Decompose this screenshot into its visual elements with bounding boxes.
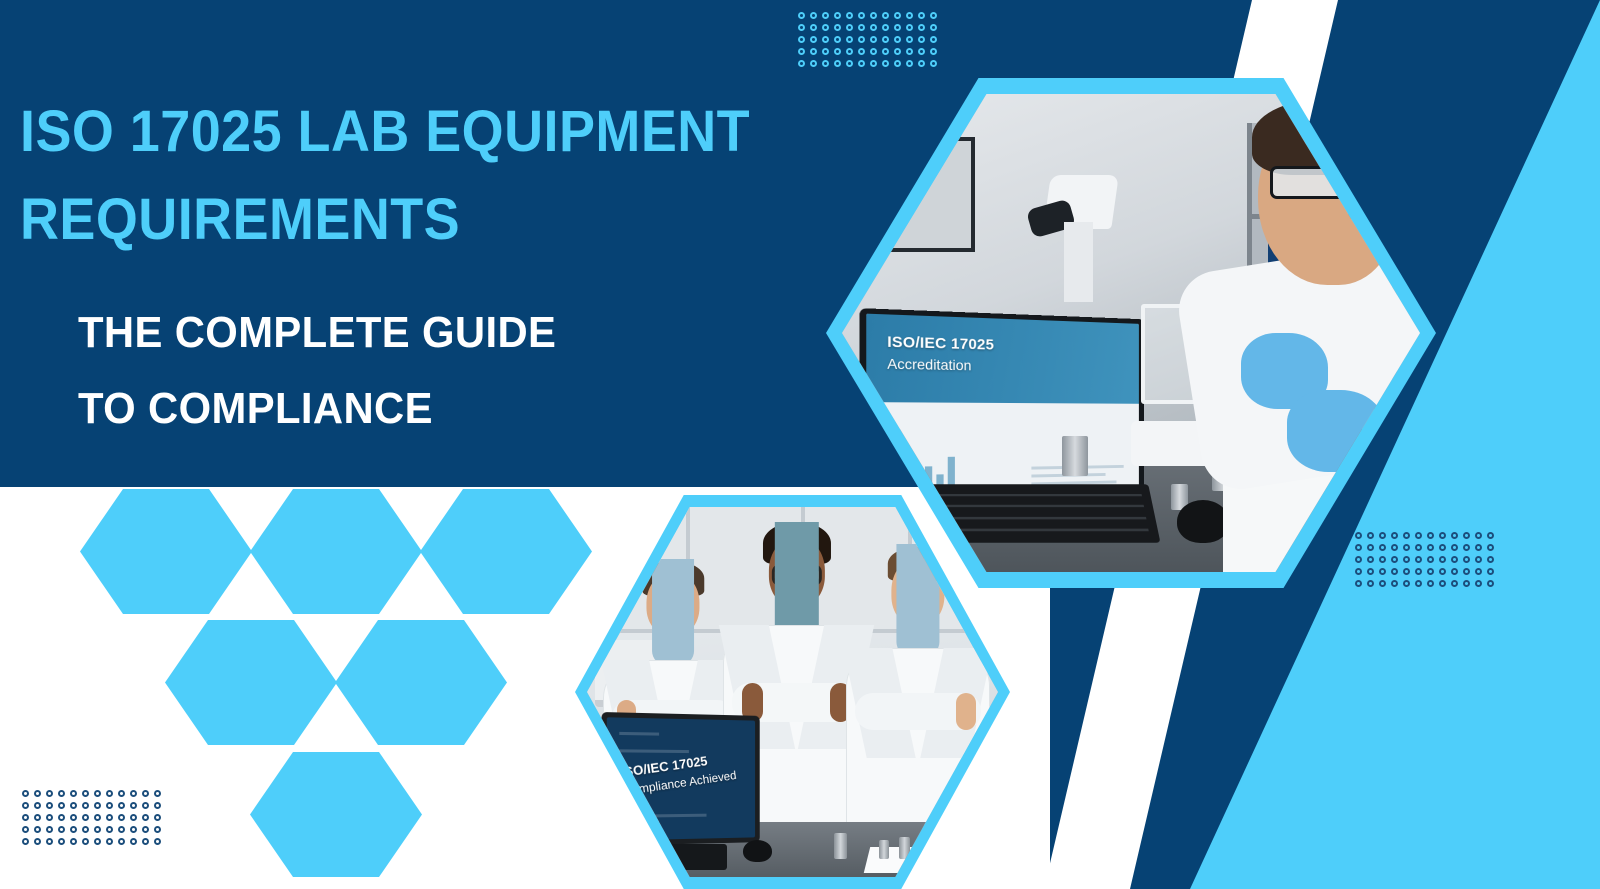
dot — [1379, 556, 1386, 563]
dot — [154, 838, 161, 845]
dot — [1427, 544, 1434, 551]
dot — [142, 802, 149, 809]
dot — [106, 802, 113, 809]
dot — [906, 48, 913, 55]
dot — [154, 790, 161, 797]
dot — [810, 36, 817, 43]
dot — [22, 790, 29, 797]
dot — [106, 826, 113, 833]
dot — [1403, 556, 1410, 563]
dot — [154, 802, 161, 809]
dot — [142, 838, 149, 845]
dot — [1475, 580, 1482, 587]
dot — [918, 24, 925, 31]
dot — [1475, 544, 1482, 551]
dot — [1487, 580, 1494, 587]
dot — [822, 48, 829, 55]
dot — [94, 802, 101, 809]
dot — [70, 814, 77, 821]
dot — [918, 36, 925, 43]
dot — [1427, 556, 1434, 563]
dot — [810, 60, 817, 67]
dot — [58, 826, 65, 833]
dot — [918, 60, 925, 67]
dot — [906, 12, 913, 19]
dot — [834, 24, 841, 31]
dot — [858, 24, 865, 31]
dot — [1355, 532, 1362, 539]
dot — [1451, 532, 1458, 539]
dot — [870, 36, 877, 43]
bottom-right-dot-grid — [1355, 532, 1499, 592]
dot — [882, 36, 889, 43]
dot — [1463, 556, 1470, 563]
dot — [846, 60, 853, 67]
dot — [834, 36, 841, 43]
dot — [846, 24, 853, 31]
dot — [58, 838, 65, 845]
dot — [858, 48, 865, 55]
dot — [798, 24, 805, 31]
dot — [822, 36, 829, 43]
dot — [930, 12, 937, 19]
dot — [46, 802, 53, 809]
dot — [1391, 544, 1398, 551]
dot — [82, 790, 89, 797]
dot — [798, 36, 805, 43]
calibration-weight — [834, 833, 847, 859]
dot — [930, 24, 937, 31]
dot — [1451, 568, 1458, 575]
dot — [870, 24, 877, 31]
dot — [1355, 568, 1362, 575]
dot — [34, 790, 41, 797]
dot — [1451, 544, 1458, 551]
dot — [1403, 532, 1410, 539]
dot — [1415, 532, 1422, 539]
dot — [46, 838, 53, 845]
dot — [58, 802, 65, 809]
dot — [870, 60, 877, 67]
dot — [1391, 532, 1398, 539]
dot — [118, 802, 125, 809]
dot — [106, 838, 113, 845]
dot — [70, 826, 77, 833]
dot — [1463, 532, 1470, 539]
dot — [106, 790, 113, 797]
dot — [1379, 544, 1386, 551]
dot — [822, 24, 829, 31]
dot — [1475, 568, 1482, 575]
dot — [34, 826, 41, 833]
dot — [22, 802, 29, 809]
dot — [918, 12, 925, 19]
dot — [822, 12, 829, 19]
dot — [1451, 580, 1458, 587]
dot — [834, 48, 841, 55]
dot — [798, 48, 805, 55]
dot — [82, 814, 89, 821]
dot — [1487, 568, 1494, 575]
dot — [130, 838, 137, 845]
dot — [810, 24, 817, 31]
dot — [46, 826, 53, 833]
dot — [858, 60, 865, 67]
dot — [1427, 532, 1434, 539]
dot — [34, 814, 41, 821]
dot — [798, 60, 805, 67]
dot — [1379, 568, 1386, 575]
dot — [1439, 556, 1446, 563]
dot — [46, 814, 53, 821]
dot — [1367, 556, 1374, 563]
calibration-weight — [879, 840, 889, 859]
dot — [1439, 568, 1446, 575]
dot — [142, 814, 149, 821]
banner-title: ISO 17025 LAB EQUIPMENT REQUIREMENTS — [20, 88, 876, 264]
dot — [1487, 544, 1494, 551]
dot — [130, 814, 137, 821]
dot — [1403, 568, 1410, 575]
computer-mouse — [743, 840, 772, 862]
dot — [906, 24, 913, 31]
dot — [1439, 532, 1446, 539]
dot — [154, 826, 161, 833]
dot — [130, 790, 137, 797]
dot — [858, 36, 865, 43]
dot — [118, 826, 125, 833]
dot — [870, 48, 877, 55]
dot — [34, 802, 41, 809]
dot — [906, 60, 913, 67]
dot — [94, 838, 101, 845]
dot — [1355, 544, 1362, 551]
calibration-weight — [1062, 436, 1088, 476]
dot — [1367, 532, 1374, 539]
dot — [34, 838, 41, 845]
dot — [894, 48, 901, 55]
dot — [70, 802, 77, 809]
dot — [846, 36, 853, 43]
monitor-screen-title: ISO/IEC 17025 — [887, 333, 994, 355]
banner-canvas: ISO/IEC 17025 Accreditation — [0, 0, 1600, 889]
dot — [1391, 580, 1398, 587]
dot — [70, 838, 77, 845]
dot — [1355, 556, 1362, 563]
top-dot-grid — [798, 12, 942, 72]
dot — [94, 826, 101, 833]
dot — [1463, 580, 1470, 587]
dot — [118, 814, 125, 821]
dot — [1415, 544, 1422, 551]
dot — [22, 814, 29, 821]
dot — [798, 12, 805, 19]
dot — [1475, 532, 1482, 539]
dot — [22, 826, 29, 833]
dot — [1427, 568, 1434, 575]
dot — [130, 826, 137, 833]
dot — [870, 12, 877, 19]
dot — [822, 60, 829, 67]
dot — [846, 12, 853, 19]
dot — [58, 790, 65, 797]
dot — [1415, 556, 1422, 563]
monitor-screen-subtitle: Accreditation — [887, 356, 994, 376]
dot — [1475, 556, 1482, 563]
dot — [810, 48, 817, 55]
dot — [882, 60, 889, 67]
dot — [154, 814, 161, 821]
dot — [858, 12, 865, 19]
dot — [882, 12, 889, 19]
banner-subtitle: THE COMPLETE GUIDE TO COMPLIANCE — [78, 295, 857, 446]
dot — [1427, 580, 1434, 587]
dot — [1463, 544, 1470, 551]
dot — [142, 826, 149, 833]
dot — [1439, 544, 1446, 551]
dot — [918, 48, 925, 55]
dot — [82, 838, 89, 845]
dot — [930, 48, 937, 55]
dot — [894, 12, 901, 19]
banner-subtitle-line-2: TO COMPLIANCE — [78, 371, 857, 447]
banner-subtitle-line-1: THE COMPLETE GUIDE — [78, 295, 857, 371]
dot — [106, 814, 113, 821]
dot — [1487, 556, 1494, 563]
dot — [834, 12, 841, 19]
dot — [1487, 532, 1494, 539]
dot — [894, 24, 901, 31]
dot — [1451, 556, 1458, 563]
dot — [894, 36, 901, 43]
dot — [882, 48, 889, 55]
dot — [1391, 556, 1398, 563]
dot — [1379, 532, 1386, 539]
dot — [1415, 580, 1422, 587]
dot — [1367, 568, 1374, 575]
dot — [834, 60, 841, 67]
dot — [930, 36, 937, 43]
dot — [1379, 580, 1386, 587]
dot — [930, 60, 937, 67]
dot — [1367, 580, 1374, 587]
dot — [94, 790, 101, 797]
dot — [58, 814, 65, 821]
dot — [82, 802, 89, 809]
dot — [1463, 568, 1470, 575]
dot — [894, 60, 901, 67]
dot — [82, 826, 89, 833]
dot — [142, 790, 149, 797]
dot — [1391, 568, 1398, 575]
dot — [22, 838, 29, 845]
dot — [1415, 568, 1422, 575]
dot — [130, 802, 137, 809]
bottom-left-dot-grid — [22, 790, 166, 850]
dot — [810, 12, 817, 19]
dot — [1367, 544, 1374, 551]
dot — [1355, 580, 1362, 587]
dot — [1403, 580, 1410, 587]
dot — [846, 48, 853, 55]
dot — [906, 36, 913, 43]
dot — [882, 24, 889, 31]
dot — [70, 790, 77, 797]
dot — [118, 838, 125, 845]
dot — [94, 814, 101, 821]
dot — [1439, 580, 1446, 587]
dot — [1403, 544, 1410, 551]
dot — [46, 790, 53, 797]
computer-mouse — [1177, 500, 1229, 543]
dot — [118, 790, 125, 797]
